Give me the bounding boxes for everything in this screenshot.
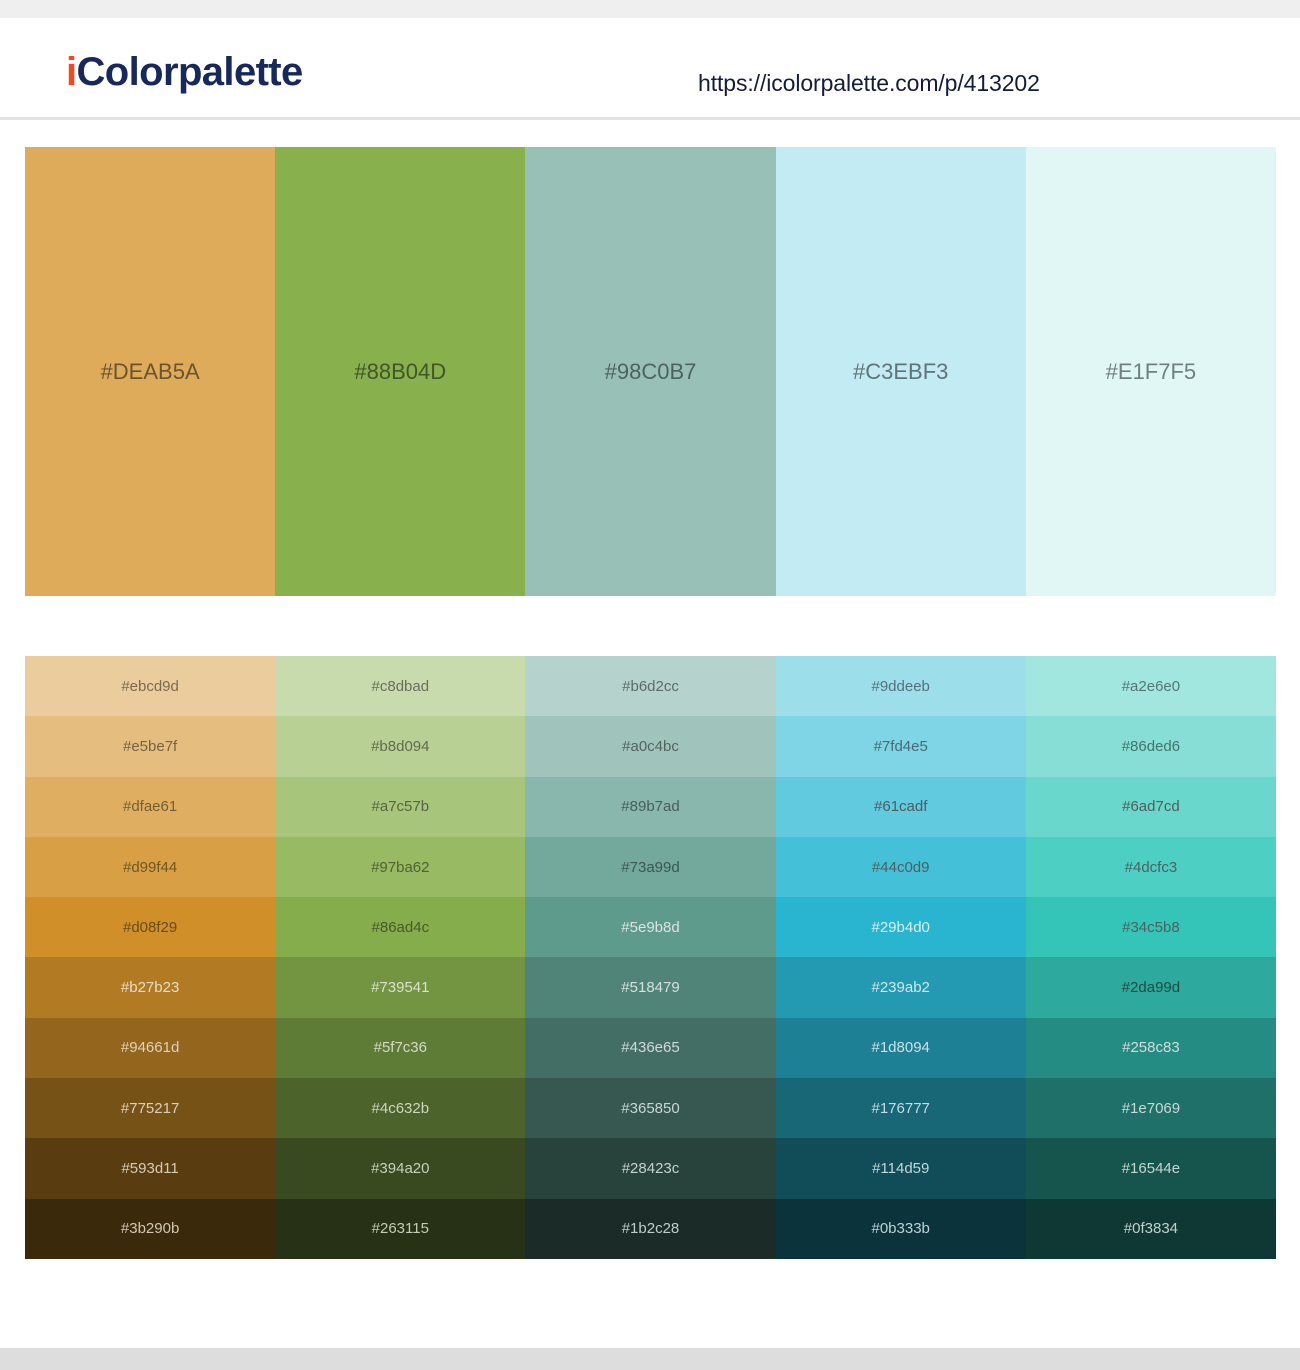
palette-url: https://icolorpalette.com/p/413202 xyxy=(698,72,1040,95)
shade-cell[interactable]: #d99f44 xyxy=(25,837,275,897)
shade-cell[interactable]: #a2e6e0 xyxy=(1026,656,1276,716)
shade-cell[interactable]: #34c5b8 xyxy=(1026,897,1276,957)
shade-cell[interactable]: #739541 xyxy=(275,957,525,1017)
shade-cell[interactable]: #394a20 xyxy=(275,1138,525,1198)
shade-cell[interactable]: #0f3834 xyxy=(1026,1199,1276,1259)
shade-cell[interactable]: #28423c xyxy=(525,1138,775,1198)
shade-cell[interactable]: #9ddeeb xyxy=(776,656,1026,716)
shade-cell[interactable]: #4c632b xyxy=(275,1078,525,1138)
shade-cell[interactable]: #4dcfc3 xyxy=(1026,837,1276,897)
palette-swatch-label: #E1F7F5 xyxy=(1026,361,1276,383)
logo-letter-i: i xyxy=(66,50,77,94)
palette-swatch-label: #88B04D xyxy=(275,361,525,383)
shade-cell[interactable]: #2da99d xyxy=(1026,957,1276,1017)
shade-cell[interactable]: #5f7c36 xyxy=(275,1018,525,1078)
palette-swatch-label: #C3EBF3 xyxy=(776,361,1026,383)
shade-cell[interactable]: #61cadf xyxy=(776,777,1026,837)
shade-row: #e5be7f#b8d094#a0c4bc#7fd4e5#86ded6 xyxy=(25,716,1276,776)
shade-cell[interactable]: #73a99d xyxy=(525,837,775,897)
shade-cell[interactable]: #86ad4c xyxy=(275,897,525,957)
shade-row: #dfae61#a7c57b#89b7ad#61cadf#6ad7cd xyxy=(25,777,1276,837)
shade-row: #593d11#394a20#28423c#114d59#16544e xyxy=(25,1138,1276,1198)
shade-cell[interactable]: #775217 xyxy=(25,1078,275,1138)
shade-cell[interactable]: #1d8094 xyxy=(776,1018,1026,1078)
page-body: iColorpalette https://icolorpalette.com/… xyxy=(0,18,1300,1348)
shade-cell[interactable]: #0b333b xyxy=(776,1199,1026,1259)
shade-cell[interactable]: #114d59 xyxy=(776,1138,1026,1198)
shade-row: #ebcd9d#c8dbad#b6d2cc#9ddeeb#a2e6e0 xyxy=(25,656,1276,716)
shade-cell[interactable]: #365850 xyxy=(525,1078,775,1138)
shade-grid: #ebcd9d#c8dbad#b6d2cc#9ddeeb#a2e6e0#e5be… xyxy=(25,656,1276,1259)
shade-cell[interactable]: #518479 xyxy=(525,957,775,1017)
shade-cell[interactable]: #593d11 xyxy=(25,1138,275,1198)
shade-cell[interactable]: #c8dbad xyxy=(275,656,525,716)
top-browser-strip xyxy=(0,0,1300,18)
shade-cell[interactable]: #e5be7f xyxy=(25,716,275,776)
palette-swatch[interactable]: #DEAB5A xyxy=(25,147,275,596)
shade-row: #3b290b#263115#1b2c28#0b333b#0f3834 xyxy=(25,1199,1276,1259)
shade-cell[interactable]: #b6d2cc xyxy=(525,656,775,716)
site-logo[interactable]: iColorpalette xyxy=(66,52,303,92)
footer-band xyxy=(0,1348,1300,1370)
shade-row: #775217#4c632b#365850#176777#1e7069 xyxy=(25,1078,1276,1138)
palette-swatch[interactable]: #E1F7F5 xyxy=(1026,147,1276,596)
main-palette: #DEAB5A#88B04D#98C0B7#C3EBF3#E1F7F5 xyxy=(25,147,1276,596)
shade-cell[interactable]: #1e7069 xyxy=(1026,1078,1276,1138)
shade-cell[interactable]: #44c0d9 xyxy=(776,837,1026,897)
shade-cell[interactable]: #258c83 xyxy=(1026,1018,1276,1078)
palette-swatch[interactable]: #C3EBF3 xyxy=(776,147,1026,596)
shade-cell[interactable]: #b8d094 xyxy=(275,716,525,776)
shade-cell[interactable]: #263115 xyxy=(275,1199,525,1259)
shade-cell[interactable]: #6ad7cd xyxy=(1026,777,1276,837)
shade-cell[interactable]: #89b7ad xyxy=(525,777,775,837)
shade-cell[interactable]: #ebcd9d xyxy=(25,656,275,716)
shade-cell[interactable]: #176777 xyxy=(776,1078,1026,1138)
shade-cell[interactable]: #436e65 xyxy=(525,1018,775,1078)
shade-cell[interactable]: #3b290b xyxy=(25,1199,275,1259)
shade-cell[interactable]: #a7c57b xyxy=(275,777,525,837)
shade-cell[interactable]: #d08f29 xyxy=(25,897,275,957)
shade-row: #94661d#5f7c36#436e65#1d8094#258c83 xyxy=(25,1018,1276,1078)
shade-row: #d08f29#86ad4c#5e9b8d#29b4d0#34c5b8 xyxy=(25,897,1276,957)
shade-cell[interactable]: #239ab2 xyxy=(776,957,1026,1017)
shade-cell[interactable]: #b27b23 xyxy=(25,957,275,1017)
shade-cell[interactable]: #7fd4e5 xyxy=(776,716,1026,776)
shade-cell[interactable]: #29b4d0 xyxy=(776,897,1026,957)
shade-cell[interactable]: #86ded6 xyxy=(1026,716,1276,776)
shade-cell[interactable]: #5e9b8d xyxy=(525,897,775,957)
shade-cell[interactable]: #94661d xyxy=(25,1018,275,1078)
shade-row: #d99f44#97ba62#73a99d#44c0d9#4dcfc3 xyxy=(25,837,1276,897)
shade-cell[interactable]: #1b2c28 xyxy=(525,1199,775,1259)
palette-swatch[interactable]: #98C0B7 xyxy=(525,147,775,596)
shade-cell[interactable]: #97ba62 xyxy=(275,837,525,897)
palette-swatch-label: #DEAB5A xyxy=(25,361,275,383)
shade-row: #b27b23#739541#518479#239ab2#2da99d xyxy=(25,957,1276,1017)
palette-swatch-label: #98C0B7 xyxy=(525,361,775,383)
logo-wordmark: Colorpalette xyxy=(77,50,303,94)
shade-cell[interactable]: #dfae61 xyxy=(25,777,275,837)
shade-cell[interactable]: #16544e xyxy=(1026,1138,1276,1198)
shade-cell[interactable]: #a0c4bc xyxy=(525,716,775,776)
site-header: iColorpalette https://icolorpalette.com/… xyxy=(0,18,1300,120)
palette-swatch[interactable]: #88B04D xyxy=(275,147,525,596)
